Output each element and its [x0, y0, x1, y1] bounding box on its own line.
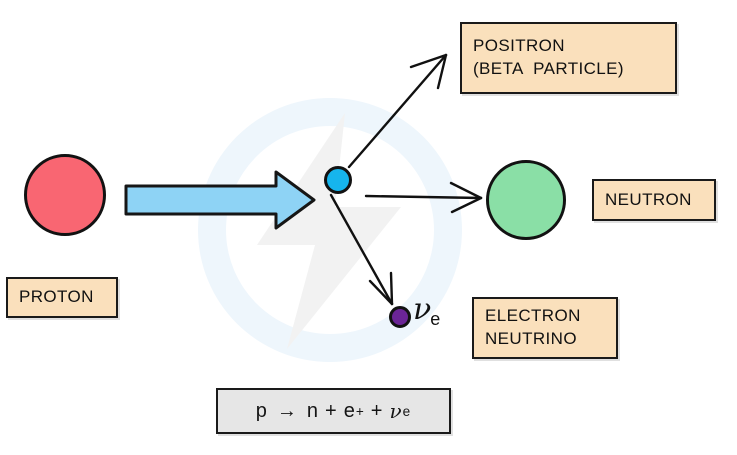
equation-product-1: n	[307, 400, 319, 423]
incoming-proton-arrow	[126, 172, 314, 228]
label-positron: POSITRON (BETA PARTICLE)	[460, 22, 677, 94]
label-electron-neutrino-line-2: NEUTRINO	[485, 328, 605, 351]
equation-product-2-superscript: +	[356, 404, 365, 419]
label-neutron: NEUTRON	[592, 179, 716, 221]
neutrino-node	[389, 306, 411, 328]
label-neutron-line-1: NEUTRON	[605, 189, 703, 212]
equation-product-2: e	[344, 400, 356, 423]
equation-reactant: p	[256, 400, 268, 423]
label-proton: PROTON	[6, 277, 118, 318]
neutrino-symbol-subscript: e	[430, 309, 440, 329]
positron-emission-arrow	[349, 55, 446, 167]
positron-node	[324, 166, 352, 194]
equation-product-3: ν	[389, 399, 402, 423]
label-positron-line-2: (BETA PARTICLE)	[473, 58, 664, 81]
equation-plus-2: +	[371, 400, 384, 423]
equation-arrow-icon: →	[277, 400, 298, 423]
neutrino-symbol: νe	[413, 292, 440, 330]
neutron-product-arrow	[366, 183, 481, 212]
neutrino-symbol-base: ν	[413, 292, 431, 327]
equation-plus-1: +	[325, 400, 338, 423]
beta-decay-diagram: νe PROTON POSITRON (BETA PARTICLE) NEUTR…	[0, 0, 737, 455]
proton-circle	[24, 154, 106, 236]
label-positron-line-1: POSITRON	[473, 35, 664, 58]
label-electron-neutrino: ELECTRON NEUTRINO	[472, 297, 618, 359]
neutrino-emission-arrow	[331, 195, 392, 304]
equation-product-3-subscript: e	[403, 404, 412, 419]
label-proton-line-1: PROTON	[19, 286, 105, 309]
label-electron-neutrino-line-1: ELECTRON	[485, 305, 605, 328]
decay-equation: p → n + e+ + νe	[216, 388, 451, 434]
neutron-circle	[486, 160, 566, 240]
